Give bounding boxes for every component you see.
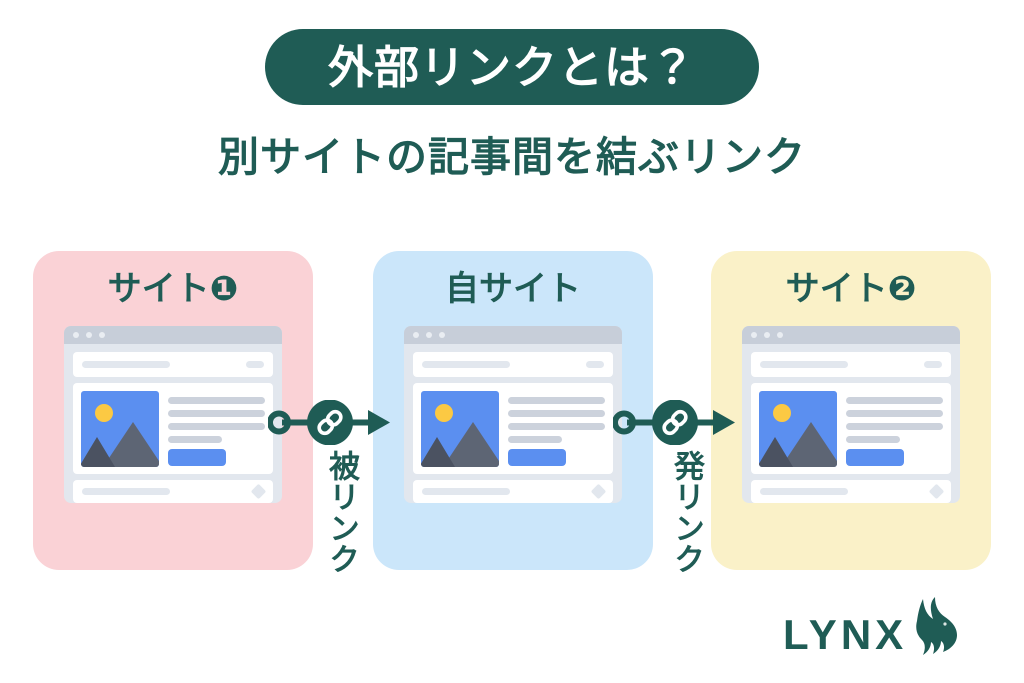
diamond-icon	[929, 484, 945, 500]
connector-outbound	[613, 400, 738, 445]
placeholder-chip	[924, 361, 942, 368]
panel-own-site: 自サイト	[373, 251, 653, 570]
content-footer	[751, 480, 951, 503]
mountain-icon	[759, 437, 793, 467]
browser-content	[742, 344, 960, 503]
browser-mockup	[64, 326, 282, 503]
logo-wordmark: LYNX	[783, 614, 907, 656]
image-placeholder-icon	[759, 391, 837, 467]
sun-icon	[95, 404, 113, 422]
panel-own-site-label: 自サイト	[373, 269, 653, 310]
browser-mockup	[404, 326, 622, 503]
sun-icon	[773, 404, 791, 422]
content-article	[751, 383, 951, 474]
image-placeholder-icon	[421, 391, 499, 467]
diamond-icon	[251, 484, 267, 500]
placeholder-line	[168, 436, 222, 443]
browser-mockup	[742, 326, 960, 503]
window-dot-icon	[73, 332, 79, 338]
placeholder-line	[760, 488, 848, 495]
window-dot-icon	[439, 332, 445, 338]
placeholder-line	[846, 410, 943, 417]
panel-site-2: サイト❷	[711, 251, 991, 570]
window-dot-icon	[426, 332, 432, 338]
window-dot-icon	[86, 332, 92, 338]
placeholder-chip	[586, 361, 604, 368]
text-placeholder-block	[499, 391, 605, 466]
window-dot-icon	[751, 332, 757, 338]
placeholder-line	[168, 423, 265, 430]
browser-content	[404, 344, 622, 503]
page-subtitle: 別サイトの記事間を結ぶリンク	[0, 133, 1024, 182]
page-title: 外部リンクとは？	[328, 45, 696, 90]
placeholder-line	[846, 436, 900, 443]
browser-titlebar	[404, 326, 622, 344]
placeholder-line	[82, 488, 170, 495]
placeholder-button	[508, 449, 566, 466]
lynx-head-icon	[911, 597, 963, 662]
browser-titlebar	[64, 326, 282, 344]
window-dot-icon	[99, 332, 105, 338]
window-dot-icon	[413, 332, 419, 338]
browser-titlebar	[742, 326, 960, 344]
brand-logo: LYNX	[783, 596, 983, 658]
placeholder-line	[760, 361, 848, 368]
connector-outbound-label: 発リンク	[656, 450, 702, 574]
content-header	[413, 352, 613, 377]
placeholder-line	[168, 397, 265, 404]
placeholder-line	[422, 488, 510, 495]
placeholder-line	[846, 397, 943, 404]
panel-site-1-label: サイト❶	[33, 269, 313, 310]
browser-content	[64, 344, 282, 503]
placeholder-chip	[246, 361, 264, 368]
placeholder-line	[508, 436, 562, 443]
placeholder-line	[508, 423, 605, 430]
placeholder-line	[422, 361, 510, 368]
content-header	[751, 352, 951, 377]
window-dot-icon	[764, 332, 770, 338]
image-placeholder-icon	[81, 391, 159, 467]
content-footer	[73, 480, 273, 503]
content-header	[73, 352, 273, 377]
text-placeholder-block	[159, 391, 265, 466]
placeholder-line	[846, 423, 943, 430]
mountain-icon	[81, 437, 115, 467]
placeholder-line	[508, 410, 605, 417]
mountain-icon	[421, 437, 455, 467]
content-article	[73, 383, 273, 474]
placeholder-button	[168, 449, 226, 466]
panel-site-2-label: サイト❷	[711, 269, 991, 310]
content-article	[413, 383, 613, 474]
placeholder-button	[846, 449, 904, 466]
text-placeholder-block	[837, 391, 943, 466]
placeholder-line	[168, 410, 265, 417]
connector-inbound-label: 被リンク	[311, 450, 357, 574]
infographic-canvas: 外部リンクとは？ 別サイトの記事間を結ぶリンク サイト❶	[0, 0, 1024, 683]
diamond-icon	[591, 484, 607, 500]
placeholder-line	[82, 361, 170, 368]
title-badge: 外部リンクとは？	[265, 29, 759, 105]
sun-icon	[435, 404, 453, 422]
window-dot-icon	[777, 332, 783, 338]
content-footer	[413, 480, 613, 503]
connector-inbound	[268, 400, 393, 445]
placeholder-line	[508, 397, 605, 404]
